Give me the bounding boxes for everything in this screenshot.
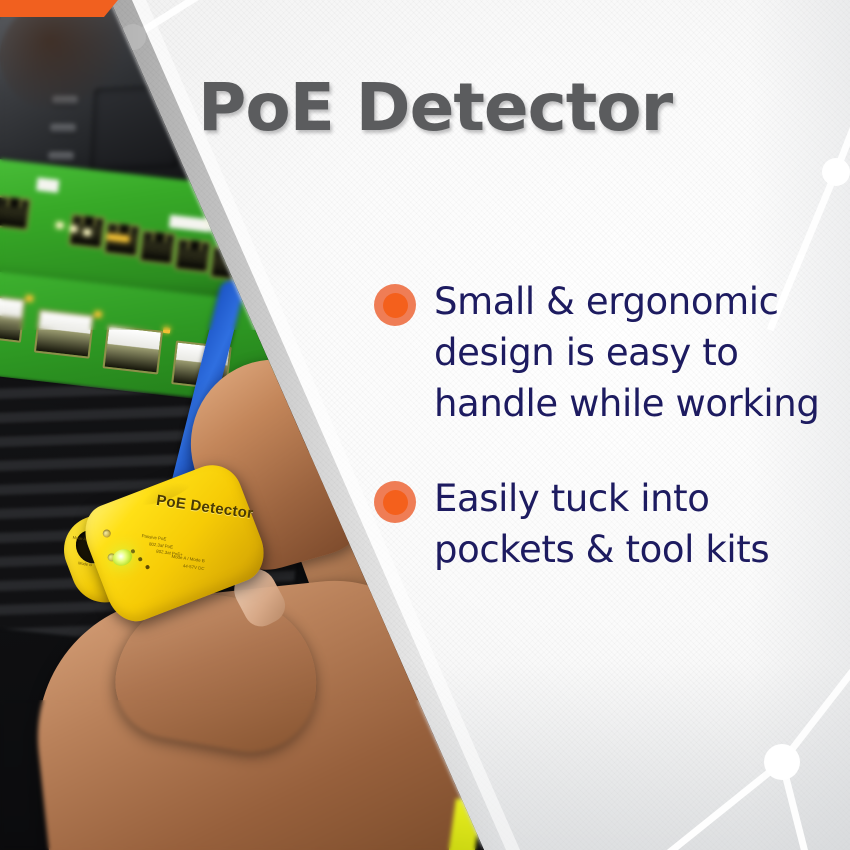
feature-list: Small & ergonomic design is easy to hand… <box>374 276 842 619</box>
page-title: PoE Detector <box>198 72 672 144</box>
bullet-dot-icon <box>374 284 416 326</box>
product-feature-image: Mode A Mode B PoE Detector Passive PoE 8… <box>0 0 850 850</box>
feature-text: Easily tuck into pockets & tool kits <box>434 473 842 575</box>
orange-accent-bar <box>0 0 118 17</box>
device-bullet <box>138 557 143 562</box>
feature-item: Easily tuck into pockets & tool kits <box>374 473 842 575</box>
device-spec-line: 44-57V DC <box>182 563 204 572</box>
device-bullet <box>145 565 150 570</box>
device-spec-line: Mode A / Mode B <box>171 554 205 565</box>
rj45-port-wide <box>102 324 163 374</box>
feature-text: Small & ergonomic design is easy to hand… <box>434 276 842 429</box>
bullet-dot-icon <box>374 481 416 523</box>
device-contact-pin <box>102 528 112 538</box>
device-brand-label: PoE Detector <box>155 492 254 522</box>
feature-item: Small & ergonomic design is easy to hand… <box>374 276 842 429</box>
